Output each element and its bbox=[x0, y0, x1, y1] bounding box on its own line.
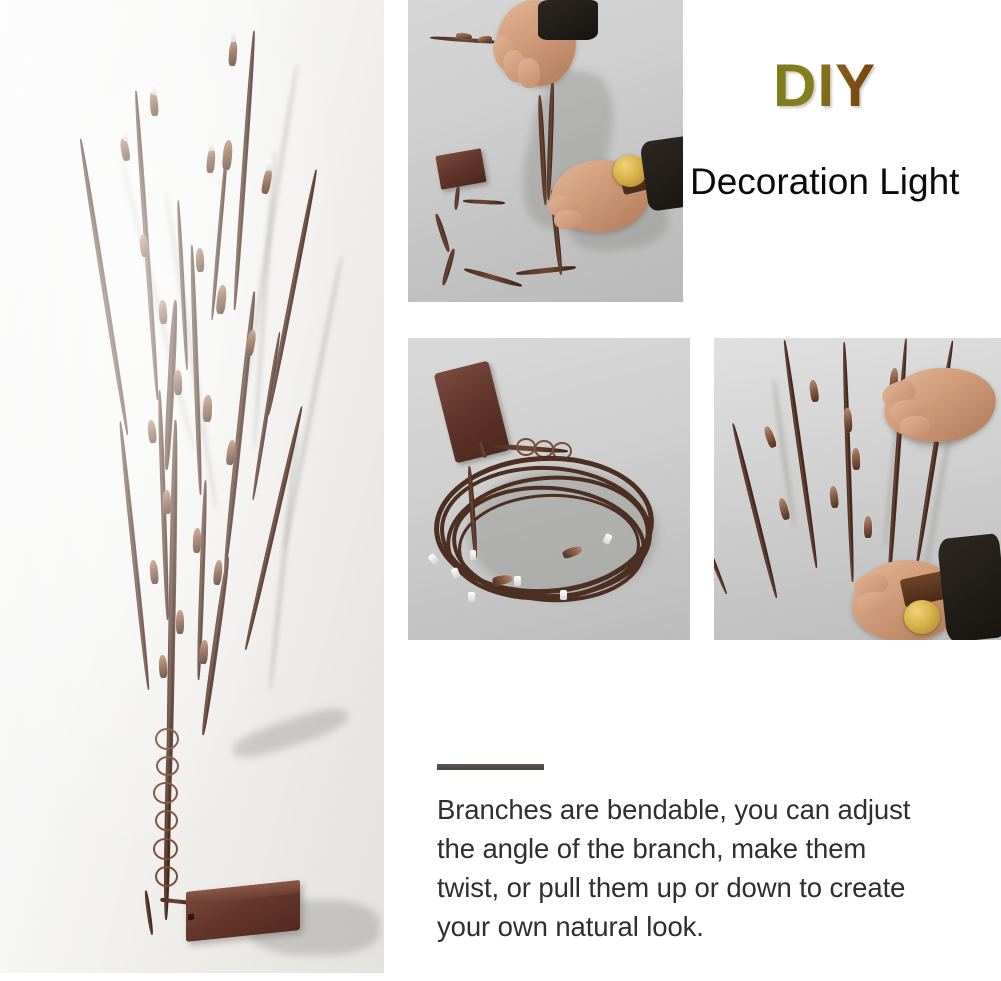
step-photo-arrange bbox=[714, 338, 1001, 640]
description-line: twist, or pull them up or down to create bbox=[437, 868, 977, 907]
description-line: your own natural look. bbox=[437, 907, 977, 946]
led-bud bbox=[864, 516, 872, 538]
product-infographic: DIY Decoration Light Branches are bendab… bbox=[0, 0, 1001, 981]
wire-coil bbox=[516, 438, 536, 456]
page-title: DIY bbox=[773, 56, 876, 116]
hero-product-photo bbox=[0, 0, 384, 973]
description-text: Branches are bendable, you can adjust th… bbox=[437, 790, 977, 946]
step-photo-uncoil bbox=[408, 0, 683, 302]
led-tip bbox=[514, 576, 521, 586]
description-line: Branches are bendable, you can adjust bbox=[437, 790, 977, 829]
wristwatch bbox=[904, 600, 940, 634]
step-photo-coiled bbox=[408, 338, 690, 640]
led-bud bbox=[852, 448, 861, 470]
led-tip bbox=[560, 590, 567, 600]
section-divider bbox=[437, 764, 544, 770]
sleeve bbox=[937, 533, 1001, 640]
page-subtitle: Decoration Light bbox=[690, 163, 959, 200]
finger bbox=[517, 57, 541, 88]
forearm bbox=[538, 0, 598, 40]
photo-vignette bbox=[0, 0, 384, 973]
led-tip bbox=[470, 550, 476, 560]
description-line: the angle of the branch, make them bbox=[437, 829, 977, 868]
led-tip bbox=[468, 592, 475, 602]
